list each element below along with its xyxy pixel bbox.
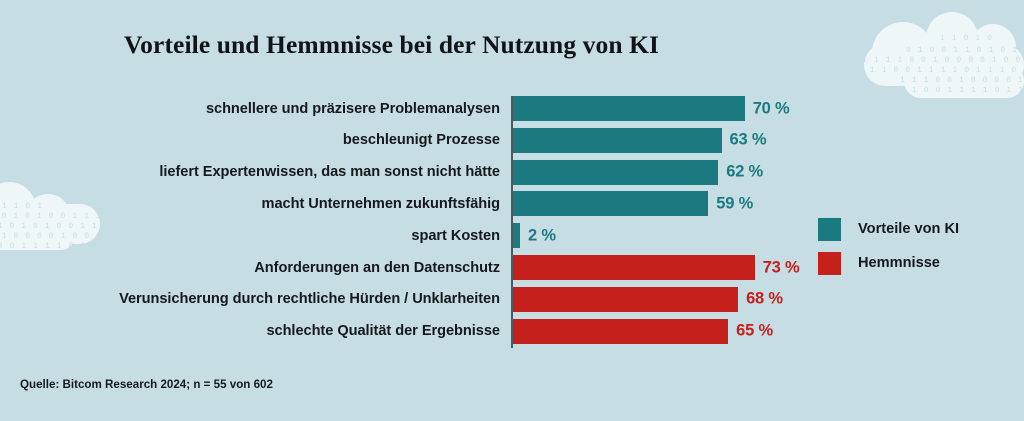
legend: Vorteile von KIHemmnisse [818,212,959,280]
chart-title: Vorteile und Hemmnisse bei der Nutzung v… [124,30,659,60]
legend-swatch-red [818,252,841,275]
binary-bits-text: 1 1 1 0 0 1 1 1 1 0 1 1 1 0 1 0 1 0 0 1 … [858,66,1024,76]
bar-fill [513,223,520,248]
bar-category-label: beschleunigt Prozesse [343,132,500,148]
bar-row: Verunsicherung durch rechtliche Hürden /… [0,287,1024,312]
bar-category-label: schnellere und präzisere Problemanalysen [206,101,500,117]
bar [513,287,738,312]
bar-value-label: 65 % [736,322,773,341]
bar-value-label: 73 % [763,258,800,277]
source-note: Quelle: Bitcom Research 2024; n = 55 von… [20,378,273,391]
bar-value-label: 62 % [726,163,763,182]
bar [513,160,718,185]
bar-row: schnellere und präzisere Problemanalysen… [0,96,1024,121]
bar-row: beschleunigt Prozesse63 % [0,128,1024,153]
bar-fill [513,128,722,153]
bar-value-label: 59 % [716,194,753,213]
legend-item[interactable]: Vorteile von KI [818,212,959,246]
bar-row: liefert Expertenwissen, das man sonst ni… [0,160,1024,185]
legend-swatch-teal [818,218,841,241]
bar-category-label: spart Kosten [411,228,500,244]
bar-category-label: liefert Expertenwissen, das man sonst ni… [159,164,500,180]
legend-item-label: Hemmnisse [858,255,940,271]
bar [513,319,728,344]
legend-item-label: Vorteile von KI [858,221,959,237]
infographic-chart: 1 1 0 1 0 0 1 0 0 1 1 0 1 0 1 1 0 0 1 1 … [0,0,1024,421]
bar-row: schlechte Qualität der Ergebnisse65 % [0,319,1024,344]
binary-bits-text: 1 0 0 1 1 1 1 0 1 1 1 0 1 0 1 0 0 1 1 0 … [912,86,1024,96]
bar-category-label: Verunsicherung durch rechtliche Hürden /… [119,291,500,307]
binary-bits-text: 0 1 0 0 1 1 0 1 0 1 1 0 0 1 1 0 [906,46,1024,56]
bar-fill [513,160,718,185]
bar-category-label: macht Unternehmen zukunftsfähig [262,196,500,212]
bar-fill [513,319,728,344]
binary-bits-text: 1 1 0 1 0 [940,34,993,44]
legend-item[interactable]: Hemmnisse [818,246,959,280]
bar [513,255,755,280]
binary-bits-text: 1 1 1 1 0 0 1 0 0 0 0 1 0 0 0 1 0 1 0 1 … [862,56,1024,66]
bar-value-label: 2 % [528,226,556,245]
bar-fill [513,287,738,312]
bar-category-label: Anforderungen an den Datenschutz [254,260,500,276]
bar [513,96,745,121]
bar-fill [513,191,708,216]
bar-fill [513,255,755,280]
bar-value-label: 70 % [753,99,790,118]
bar [513,128,722,153]
binary-bits-text: 1 1 1 0 0 1 0 0 0 0 1 1 0 0 1 0 1 0 1 1 … [900,76,1024,86]
bar-category-label: schlechte Qualität der Ergebnisse [266,323,500,339]
bar [513,223,520,248]
bar-value-label: 63 % [730,131,767,150]
binary-cloud-top-right-icon: 1 1 0 1 0 0 1 0 0 1 1 0 1 0 1 1 0 0 1 1 … [854,0,1024,102]
bar-fill [513,96,745,121]
bar [513,191,708,216]
bar-value-label: 68 % [746,290,783,309]
